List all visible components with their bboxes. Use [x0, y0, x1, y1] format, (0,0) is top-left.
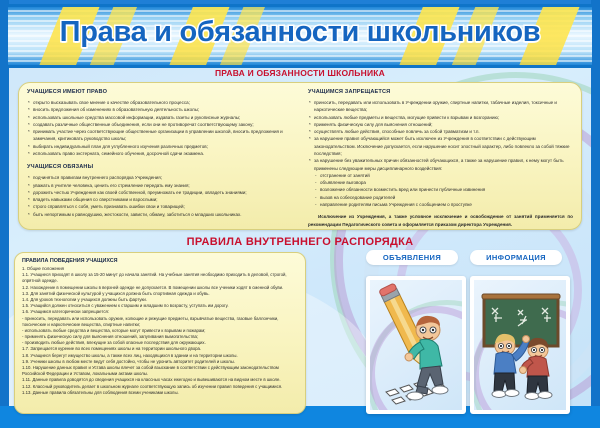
boy-with-pencil-illustration — [370, 280, 462, 410]
prohibited-heading: УЧАЩИМСЯ ЗАПРЕЩАЕТСЯ — [308, 89, 573, 95]
list-item: создавать различные общественные объедин… — [27, 121, 292, 128]
list-item: выбирать индивидуальный план для углубле… — [27, 143, 292, 150]
list-item: за нарушение правил обучающийся может бы… — [308, 135, 573, 157]
list-item: направление родителям письма Учреждения … — [308, 201, 573, 208]
card-announcements — [366, 276, 466, 414]
poster-header-banner: Права и обязанности школьников — [8, 4, 592, 68]
list-item: применять физическую силу для выяснения … — [308, 121, 573, 128]
list-item: использовать право экстерната, семейного… — [27, 150, 292, 157]
list-item: уважать в учителе человека, ценить его с… — [27, 182, 292, 189]
rules-line: 1.11. Данные правила доводятся до сведен… — [22, 377, 298, 383]
page-title: Права и обязанности школьников — [8, 16, 592, 49]
rights-heading: УЧАЩИЕСЯ ИМЕЮТ ПРАВО — [27, 89, 292, 95]
duties-heading: УЧАЩИЕСЯ ОБЯЗАНЫ — [27, 164, 292, 170]
badge-information: ИНФОРМАЦИЯ — [470, 250, 562, 265]
rules-line: 1.1. Учащиеся приходят в школу за 15-20 … — [22, 272, 298, 284]
children-at-blackboard-illustration — [474, 280, 566, 410]
internal-rules-panel: ПРАВИЛА ПОВЕДЕНИЯ УЧАЩИХСЯ 1. Общие поло… — [14, 252, 306, 414]
list-item: быть непортимым к равнодушию, жестокости… — [27, 211, 292, 218]
exclusion-note: Исключение из Учреждения, а также условн… — [308, 213, 573, 228]
list-item: вносить предложения об изменениях в обра… — [27, 106, 292, 113]
list-item: приносить, передавать или использовать в… — [308, 99, 573, 114]
rules-content: ПРАВИЛА ПОВЕДЕНИЯ УЧАЩИХСЯ 1. Общие поло… — [15, 253, 305, 413]
list-item: использовать любые предметы и вещества, … — [308, 114, 573, 121]
list-item: использовать школьные средства массовой … — [27, 114, 292, 121]
section-header-internal-rules: ПРАВИЛА ВНУТРЕННЕГО РАСПОРЯДКА — [8, 236, 592, 248]
rights-duties-left-column: УЧАЩИЕСЯ ИМЕЮТ ПРАВО открыто высказывать… — [19, 83, 300, 229]
rules-line: 1.12. Классный руководитель делает в шко… — [22, 384, 298, 390]
section-header-rights-duties: ПРАВА И ОБЯЗАННОСТИ ШКОЛЬНИКА — [8, 68, 592, 78]
list-item: отстранение от занятий — [308, 172, 573, 179]
list-item: подчиняться правилам внутреннего распоря… — [27, 174, 292, 181]
list-item: открыто высказывать свое мнение о качест… — [27, 99, 292, 106]
rules-line: 1.10. Нарушение данных правил и Устава ш… — [22, 365, 298, 377]
list-item: осуществлять любые действия, способные п… — [308, 128, 573, 135]
prohibited-list: приносить, передавать или использовать в… — [308, 99, 573, 208]
card-information — [470, 276, 570, 414]
list-item: вызов на собеседование родителей — [308, 194, 573, 201]
list-item: за нарушение без уважительных причин обя… — [308, 157, 573, 172]
poster-root: Права и обязанности школьников ПРАВА И О… — [0, 0, 600, 428]
list-item: дорожить честью Учреждения как своей соб… — [27, 189, 292, 196]
rights-list: открыто высказывать свое мнение о качест… — [27, 99, 292, 157]
rights-duties-panel: УЧАЩИЕСЯ ИМЕЮТ ПРАВО открыто высказывать… — [18, 82, 582, 230]
list-item: принимать участие через соответствующие … — [27, 128, 292, 143]
rules-line: - приносить, передавать или использовать… — [22, 316, 298, 328]
rules-heading: ПРАВИЛА ПОВЕДЕНИЯ УЧАЩИХСЯ — [22, 258, 298, 264]
duties-list: подчиняться правилам внутреннего распоря… — [27, 174, 292, 218]
rules-line: 1.13. Данные правила обязательны для соб… — [22, 390, 298, 396]
list-item: возложение обязанности возместить вред и… — [308, 186, 573, 193]
badge-announcements: ОБЪЯВЛЕНИЯ — [366, 250, 458, 265]
list-item: объявление выговора — [308, 179, 573, 186]
prohibited-column: УЧАЩИМСЯ ЗАПРЕЩАЕТСЯ приносить, передава… — [300, 83, 581, 229]
list-item: владеть навыками общения со сверстниками… — [27, 196, 292, 203]
rules-line: 1.2. Нахождение в помещении школы в верх… — [22, 285, 298, 291]
frame-right-bar — [591, 0, 600, 428]
list-item: строго справляться с собя, уметь признав… — [27, 203, 292, 210]
